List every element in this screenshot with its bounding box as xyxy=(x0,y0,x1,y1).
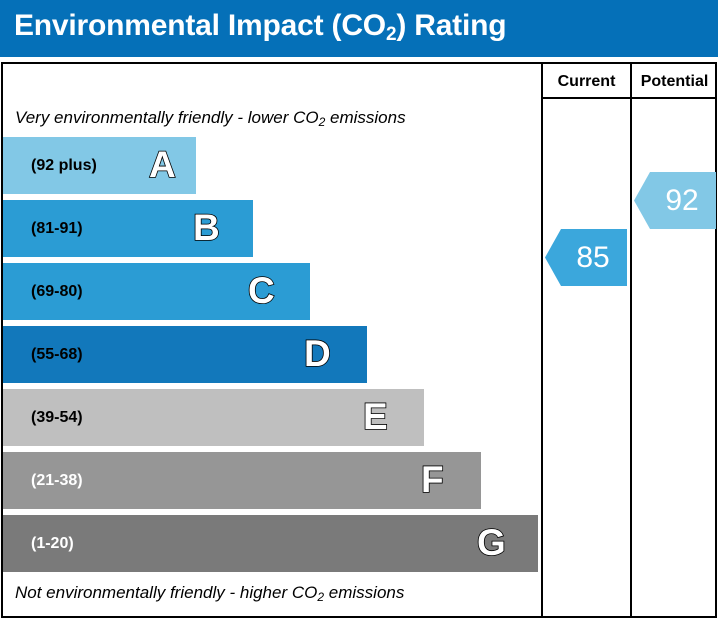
page-title: Environmental Impact (CO2) Rating xyxy=(14,9,506,43)
header-row-rule xyxy=(541,97,717,99)
band-letter-g: G xyxy=(477,515,506,572)
page-title-prefix: Environmental Impact (CO xyxy=(14,9,386,42)
band-letter-a: A xyxy=(149,137,176,194)
caption-top-suffix: emissions xyxy=(325,108,405,127)
band-range-b: (81-91) xyxy=(31,200,83,257)
band-range-d: (55-68) xyxy=(31,326,83,383)
band-letter-d: D xyxy=(304,326,331,383)
caption-bottom-subscript: 2 xyxy=(317,590,324,604)
band-letter-e: E xyxy=(363,389,388,446)
column-divider-potential xyxy=(630,64,632,616)
band-range-g: (1-20) xyxy=(31,515,74,572)
caption-bottom-suffix: emissions xyxy=(324,583,404,602)
column-header-potential: Potential xyxy=(632,70,717,94)
current-rating-value: 85 xyxy=(576,243,609,273)
page-title-suffix: ) Rating xyxy=(396,9,506,42)
band-range-a: (92 plus) xyxy=(31,137,97,194)
caption-very-friendly: Very environmentally friendly - lower CO… xyxy=(15,108,406,128)
current-rating-arrow: 85 xyxy=(545,229,627,286)
band-range-f: (21-38) xyxy=(31,452,83,509)
chart-title-banner: Environmental Impact (CO2) Rating xyxy=(0,0,718,57)
band-bar-g xyxy=(3,515,538,572)
caption-top-prefix: Very environmentally friendly - lower CO xyxy=(15,108,319,127)
band-range-c: (69-80) xyxy=(31,263,83,320)
environmental-impact-rating-chart: Environmental Impact (CO2) Rating Curren… xyxy=(0,0,718,619)
potential-rating-value: 92 xyxy=(665,186,698,216)
band-range-e: (39-54) xyxy=(31,389,83,446)
column-divider-current xyxy=(541,64,543,616)
rating-table: Current Potential Very environmentally f… xyxy=(1,62,717,618)
band-letter-c: C xyxy=(248,263,275,320)
band-letter-b: B xyxy=(193,200,220,257)
caption-top-subscript: 2 xyxy=(319,115,326,129)
page-title-subscript: 2 xyxy=(386,24,396,45)
potential-rating-arrow: 92 xyxy=(634,172,716,229)
band-bars-group: (92 plus) A (81-91) B (69-80) C (55-68) … xyxy=(3,137,539,581)
column-header-current: Current xyxy=(543,70,630,94)
caption-not-friendly: Not environmentally friendly - higher CO… xyxy=(15,583,404,603)
band-letter-f: F xyxy=(421,452,444,509)
caption-bottom-prefix: Not environmentally friendly - higher CO xyxy=(15,583,317,602)
